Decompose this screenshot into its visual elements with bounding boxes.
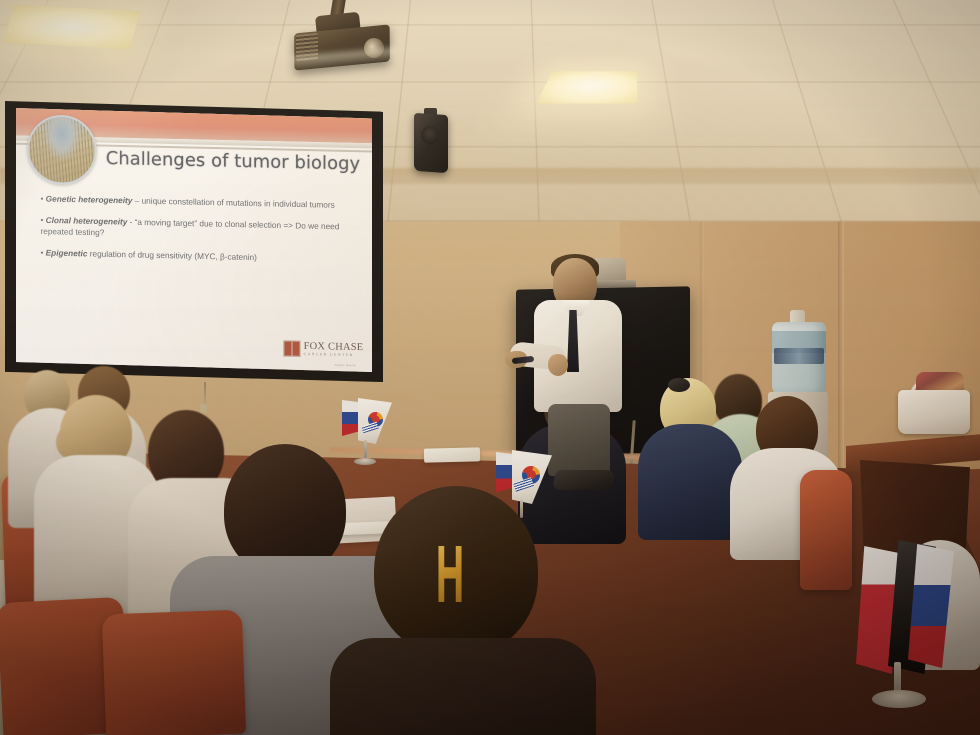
- audience-body: [638, 424, 742, 540]
- slide-bullet-3-rest: regulation of drug sensitivity (MYC, β-c…: [87, 250, 256, 263]
- slide-bullet-3-lead: Epigenetic: [46, 249, 88, 259]
- slide-bullet-2-lead: Clonal heterogeneity: [46, 216, 128, 227]
- slide-bullet-list: • Genetic heterogeneity – unique constel…: [40, 193, 362, 276]
- screen-pull-handle: [200, 404, 207, 413]
- audience-body-foreground: [330, 638, 596, 735]
- stack-of-papers: [424, 447, 480, 462]
- fox-chase-logo-text: FOX CHASE CANCER CENTER: [304, 341, 364, 357]
- flag-pole: [520, 500, 523, 518]
- chair: [102, 610, 246, 735]
- flag-base: [872, 690, 926, 708]
- presenter-trousers: [548, 404, 610, 476]
- fox-chase-logo-sub: CANCER CENTER: [304, 353, 364, 358]
- fluorescent-light-panel: [4, 5, 141, 50]
- slide-bullet-2: • Clonal heterogeneity - “a moving targe…: [40, 215, 362, 245]
- chair: [800, 470, 852, 590]
- white-handbag: [898, 390, 970, 434]
- fox-chase-logo: FOX CHASE CANCER CENTER: [283, 340, 367, 358]
- slide-bullet-1-lead: Genetic heterogeneity: [46, 194, 133, 205]
- slide-histology-photo-icon: [27, 114, 96, 185]
- photo-scene: Challenges of tumor biology • Genetic he…: [0, 0, 980, 735]
- presenter-shoe: [552, 470, 616, 490]
- fox-chase-logo-mark-icon: [283, 340, 300, 357]
- presenter-hand-raised: [548, 354, 568, 376]
- presentation-slide: Challenges of tumor biology • Genetic he…: [16, 108, 372, 372]
- slide-bullet-1-rest: – unique constellation of mutations in i…: [132, 196, 334, 210]
- speaker-cone-icon: [421, 126, 439, 144]
- slide-title: Challenges of tumor biology: [106, 149, 369, 175]
- flag-base: [354, 458, 376, 465]
- fox-chase-logo-tagline: Temple Health: [334, 363, 355, 368]
- projection-screen: Challenges of tumor biology • Genetic he…: [16, 108, 372, 372]
- slide-bullet-3: • Epigenetic regulation of drug sensitiv…: [40, 248, 362, 266]
- water-bottle-label: [774, 348, 824, 364]
- square-light-panel: [536, 71, 637, 103]
- audience-hair-clip: [668, 378, 690, 392]
- slide-bullet-1: • Genetic heterogeneity – unique constel…: [40, 193, 362, 211]
